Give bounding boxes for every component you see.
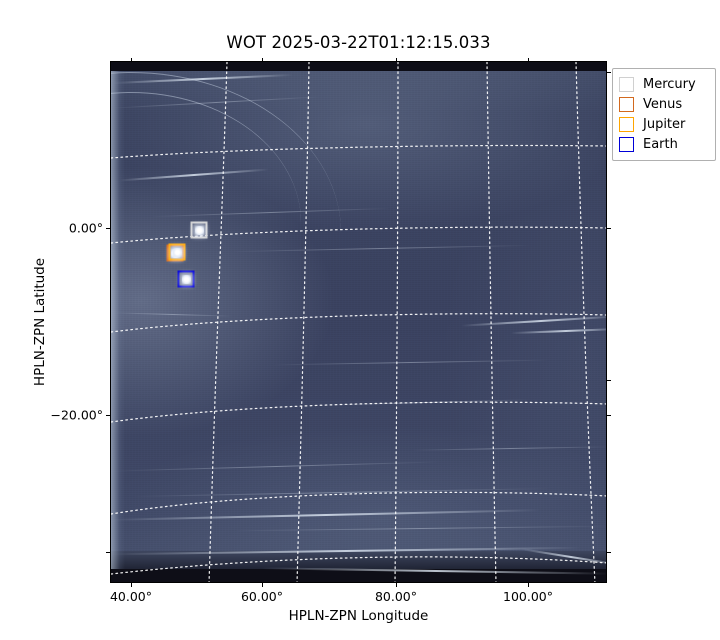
xtick-mark [131, 583, 132, 587]
xtick-mark-top [131, 58, 132, 62]
ytick-label: 0.00° [55, 221, 103, 236]
y-axis-label: HPLN-ZPN Latitude [32, 61, 48, 583]
marker-core [195, 226, 204, 235]
legend-item-mercury[interactable]: Mercury [619, 74, 709, 94]
marker-core [182, 275, 191, 284]
legend-item-venus[interactable]: Venus [619, 94, 709, 114]
legend-item-earth[interactable]: Earth [619, 134, 709, 154]
x-axis-label: HPLN-ZPN Longitude [110, 608, 607, 624]
xtick-mark-top [262, 58, 263, 62]
ytick-mark-right [607, 415, 611, 416]
marker-earth[interactable] [178, 271, 195, 288]
xtick-label: 60.00° [241, 589, 283, 604]
legend-swatch-jupiter [619, 117, 634, 132]
figure-canvas: WOT 2025-03-22T01:12:15.033 [0, 0, 720, 640]
ytick-mark-left [106, 552, 110, 553]
page-title: WOT 2025-03-22T01:12:15.033 [110, 33, 607, 52]
xtick-mark-top [396, 58, 397, 62]
plot-axes[interactable] [110, 61, 607, 583]
xtick-mark [262, 583, 263, 587]
marker-core [173, 248, 182, 257]
ytick-mark-right [607, 72, 611, 73]
legend-label: Venus [643, 97, 682, 112]
legend-swatch-earth [619, 137, 634, 152]
xtick-label: 40.00° [110, 589, 152, 604]
legend-label: Earth [643, 137, 678, 152]
ytick-mark-right [607, 380, 611, 381]
marker-mercury[interactable] [191, 222, 208, 239]
ytick-label: −20.00° [44, 408, 103, 423]
xtick-mark-top [528, 58, 529, 62]
legend-label: Jupiter [643, 117, 685, 132]
marker-jupiter[interactable] [169, 244, 186, 261]
ytick-mark [106, 228, 110, 229]
ytick-mark-right [607, 552, 611, 553]
xtick-label: 80.00° [375, 589, 417, 604]
xtick-label: 100.00° [503, 589, 553, 604]
xtick-mark [528, 583, 529, 587]
legend: Mercury Venus Jupiter Earth [612, 68, 716, 161]
ytick-mark-right [607, 228, 611, 229]
ytick-mark [106, 415, 110, 416]
legend-swatch-venus [619, 97, 634, 112]
legend-label: Mercury [643, 77, 696, 92]
legend-swatch-mercury [619, 77, 634, 92]
xtick-mark [396, 583, 397, 587]
legend-item-jupiter[interactable]: Jupiter [619, 114, 709, 134]
